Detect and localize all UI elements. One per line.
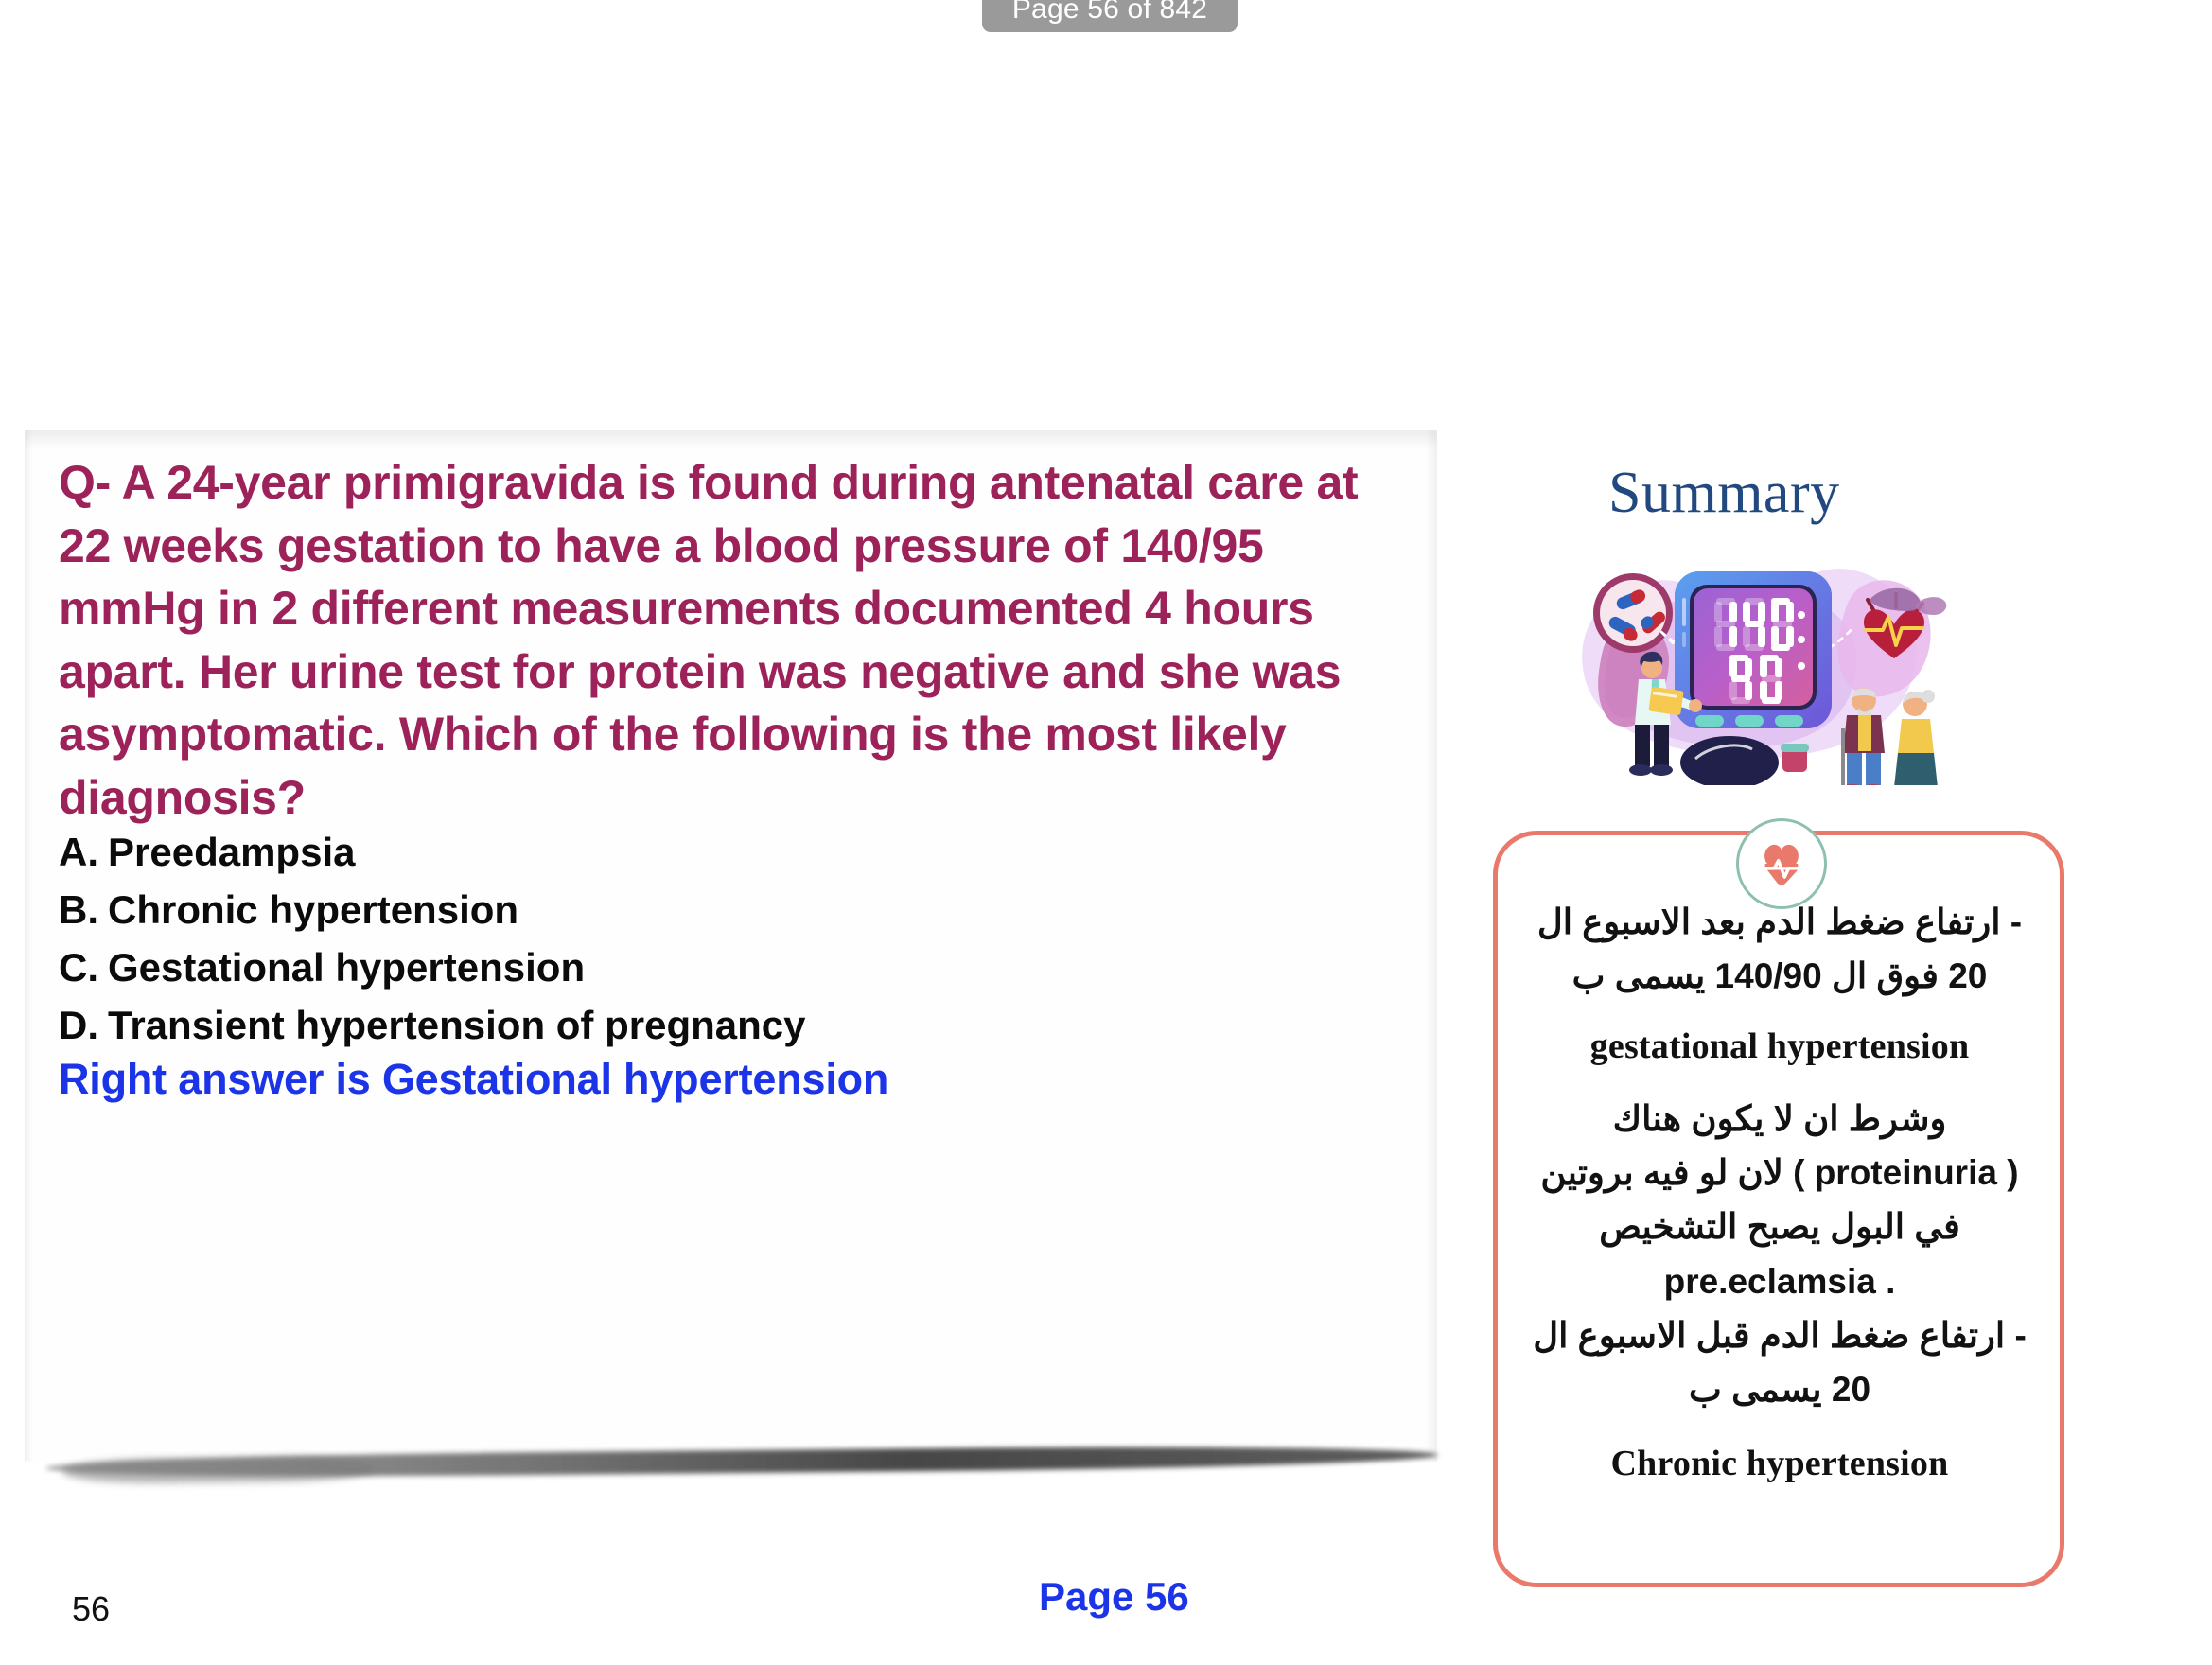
summary-body: - ارتفاع ضغط الدم بعد الاسبوع ال 20 فوق … bbox=[1510, 895, 2049, 1498]
blood-pressure-monitor-illustration bbox=[1563, 539, 1975, 785]
torn-edge-bottom-soft bbox=[62, 1456, 375, 1483]
slide-viewer: Page 56 of 842 Q- A 24-year primigravida… bbox=[0, 0, 2212, 1665]
torn-edge-left bbox=[25, 430, 32, 1462]
option-letter: D. bbox=[59, 1001, 108, 1050]
summary-line: Chronic hypertension bbox=[1510, 1436, 2049, 1492]
page-indicator-pill: Page 56 of 842 bbox=[982, 0, 1238, 32]
option-row-a[interactable]: A. Preedampsia bbox=[59, 828, 1383, 877]
summary-line: pre.eclamsia . bbox=[1510, 1254, 2049, 1308]
summary-line: - ارتفاع ضغط الدم قبل الاسبوع ال bbox=[1510, 1308, 2049, 1362]
option-row-c[interactable]: C. Gestational hypertension bbox=[59, 943, 1383, 992]
option-label: Chronic hypertension bbox=[108, 885, 518, 935]
option-label: Gestational hypertension bbox=[108, 943, 585, 992]
summary-line: - ارتفاع ضغط الدم بعد الاسبوع ال bbox=[1510, 895, 2049, 949]
option-label: Preedampsia bbox=[108, 828, 355, 877]
summary-line: 20 فوق ال 140/90 يسمى ب bbox=[1510, 949, 2049, 1003]
summary-title: Summary bbox=[1608, 460, 1840, 527]
slide-card-surface: Q- A 24-year primigravida is found durin… bbox=[25, 430, 1437, 1462]
option-letter: B. bbox=[59, 885, 108, 935]
right-answer-text: Right answer is Gestational hypertension bbox=[59, 1055, 888, 1104]
summary-line: 20 يسمى ب bbox=[1510, 1362, 2049, 1416]
option-letter: C. bbox=[59, 943, 108, 992]
option-label: Transient hypertension of pregnancy bbox=[108, 1001, 805, 1050]
summary-line: ( proteinuria ) لان لو فيه بروتين bbox=[1510, 1146, 2049, 1200]
torn-edge-top bbox=[25, 430, 1437, 449]
option-row-d[interactable]: D. Transient hypertension of pregnancy bbox=[59, 1001, 1383, 1050]
answer-options-list: A. Preedampsia B. Chronic hypertension C… bbox=[59, 828, 1383, 1059]
option-letter: A. bbox=[59, 828, 108, 877]
slide-number: 56 bbox=[72, 1589, 110, 1629]
slide-card: Q- A 24-year primigravida is found durin… bbox=[25, 430, 1437, 1462]
summary-line: gestational hypertension bbox=[1510, 1019, 2049, 1075]
page-label: Page 56 bbox=[1039, 1574, 1189, 1620]
summary-line: في البول يصبح التشخيص bbox=[1510, 1200, 2049, 1253]
question-text: Q- A 24-year primigravida is found durin… bbox=[59, 451, 1421, 829]
torn-edge-right bbox=[1426, 430, 1437, 1462]
summary-line: وشرط ان لا يكون هناك bbox=[1510, 1092, 2049, 1146]
option-row-b[interactable]: B. Chronic hypertension bbox=[59, 885, 1383, 935]
